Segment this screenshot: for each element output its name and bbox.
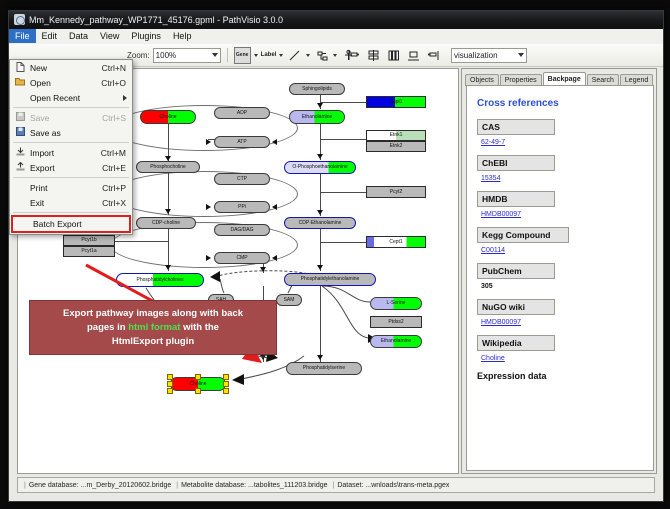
window-titlebar: Mm_Kennedy_pathway_WP1771_45176.gpml - P… — [9, 11, 663, 29]
menu-item-print[interactable]: Print Ctrl+P — [10, 180, 132, 195]
gene-etnk1[interactable]: Etnk1 — [366, 130, 426, 141]
submenu-arrow-icon — [123, 95, 127, 101]
pathvisio-app-icon — [14, 14, 25, 25]
menu-item-import[interactable]: Import Ctrl+M — [10, 145, 132, 160]
tab-backpage[interactable]: Backpage — [543, 72, 586, 86]
status-gene-db-label: Gene database: — [29, 482, 79, 489]
selection-handle[interactable] — [167, 381, 173, 387]
node-phosphocholine[interactable]: Phosphocholine — [136, 161, 200, 173]
menu-divider — [13, 212, 129, 213]
selection-handle[interactable] — [223, 388, 229, 394]
status-dataset-value: ...wnloads\trans-meta.pgex — [365, 482, 449, 489]
selection-handle[interactable] — [167, 374, 173, 380]
arrowhead-icon — [317, 210, 323, 215]
menu-item-accel: Ctrl+X — [102, 198, 132, 208]
xref-db-label: Kegg Compound — [477, 227, 569, 243]
gene-sgpl1[interactable]: Sgpl1 — [366, 96, 426, 108]
xref-nugo-wiki: NuGO wiki HMDB00097 — [477, 299, 641, 326]
file-menu-popup[interactable]: New Ctrl+N Open Ctrl+O Open Recent Save … — [9, 59, 133, 235]
xref-chebi: ChEBI 15354 — [477, 155, 641, 182]
menu-item-accel: Ctrl+S — [102, 113, 132, 123]
menu-item-label: Save as — [30, 128, 126, 138]
gene-pcyt1b[interactable]: Pcyt1b — [63, 235, 115, 246]
xref-link[interactable]: 62-49-7 — [481, 139, 505, 146]
import-icon — [10, 147, 30, 158]
menu-plugins[interactable]: Plugins — [125, 29, 167, 43]
xref-db-label: ChEBI — [477, 155, 555, 171]
menu-divider — [13, 142, 129, 143]
arrowhead-icon — [272, 255, 277, 261]
menu-item-accel: Ctrl+P — [102, 183, 132, 193]
menu-file[interactable]: File — [9, 29, 36, 43]
xref-link[interactable]: HMDB00097 — [481, 319, 521, 326]
label-dropdown-icon[interactable] — [279, 54, 283, 57]
xref-link[interactable]: HMDB00097 — [481, 211, 521, 218]
xref-value[interactable]: 62-49-7 — [481, 139, 641, 146]
menu-edit[interactable]: Edit — [36, 29, 64, 43]
menu-item-accel: Ctrl+M — [101, 148, 132, 158]
menu-item-accel: Ctrl+O — [101, 78, 132, 88]
menu-item-label: Batch Export — [33, 219, 129, 229]
xref-value[interactable]: Choline — [481, 355, 641, 362]
menu-item-label: Export — [30, 163, 102, 173]
save-icon — [10, 112, 30, 123]
gene-ptdss2[interactable]: Ptdss2 — [370, 316, 422, 328]
menu-item-label: Open — [30, 78, 101, 88]
label-button[interactable]: Label — [261, 52, 277, 58]
menu-item-exit[interactable]: Exit Ctrl+X — [10, 195, 132, 210]
xref-link[interactable]: 15354 — [481, 175, 500, 182]
menubar: FileEditDataViewPluginsHelp — [9, 29, 663, 45]
visualization-combobox[interactable]: visualization — [451, 48, 527, 63]
status-metabolite-db-label: Metabolite database: — [181, 482, 246, 489]
datanode-dropdown-icon[interactable] — [254, 54, 258, 57]
xref-db-label: NuGO wiki — [477, 299, 555, 315]
zoom-combobox[interactable]: 100% — [153, 48, 221, 63]
menu-divider — [13, 177, 129, 178]
statusbar: |Gene database: ...m_Derby_20120602.brid… — [17, 477, 655, 493]
cross-references-heading: Cross references — [477, 98, 641, 109]
menu-item-accel: Ctrl+N — [102, 63, 132, 73]
line-icon[interactable] — [286, 47, 303, 64]
xref-db-label: PubChem — [477, 263, 555, 279]
xref-db-label: Wikipedia — [477, 335, 555, 351]
arrowhead-icon — [165, 209, 171, 214]
arrowhead-icon — [272, 139, 277, 145]
chevron-down-icon — [518, 53, 524, 57]
node-ctp[interactable]: CTP — [214, 173, 270, 185]
xref-hmdb: HMDB HMDB00097 — [477, 191, 641, 218]
node-cdp-ethanolamine[interactable]: CDP-Ethanolamine — [284, 217, 356, 229]
expression-data-heading: Expression data — [477, 371, 641, 381]
annotation-line2-highlight: html format — [128, 322, 180, 333]
arrowhead-icon — [206, 255, 211, 261]
xref-value[interactable]: HMDB00097 — [481, 319, 641, 326]
node-adp[interactable]: ADP — [214, 107, 270, 119]
xref-wikipedia: Wikipedia Choline — [477, 335, 641, 362]
node-phosphatidylethanolamine[interactable]: Phosphatidylethanolamine — [284, 273, 376, 286]
menu-item-label: Save — [30, 113, 102, 123]
arrowhead-icon — [206, 139, 211, 145]
chevron-down-icon — [212, 53, 218, 57]
xref-value[interactable]: HMDB00097 — [481, 211, 641, 218]
menu-item-export[interactable]: Export Ctrl+E — [10, 160, 132, 175]
zoom-value: 100% — [156, 51, 176, 60]
node-choline[interactable]: Choline — [140, 110, 196, 124]
menu-data[interactable]: Data — [63, 29, 94, 43]
screenshot-frame: Mm_Kennedy_pathway_WP1771_45176.gpml - P… — [0, 0, 670, 509]
align-bottom-icon[interactable] — [405, 47, 422, 64]
xref-db-label: CAS — [477, 119, 555, 135]
menu-help[interactable]: Help — [167, 29, 198, 43]
arrowhead-icon — [317, 103, 323, 108]
node-atp[interactable]: ATP — [214, 136, 270, 148]
annotation-line3: HtmlExport plugin — [112, 336, 194, 347]
save-as-icon — [10, 127, 30, 138]
node-o-phosphoethanolamine[interactable]: O-Phosphoethanolamine — [284, 161, 356, 174]
menu-item-batch-export[interactable]: Batch Export — [11, 215, 131, 233]
xref-pubchem: PubChem 305 — [477, 263, 641, 290]
xref-kegg-compound: Kegg Compound C00114 — [477, 227, 641, 254]
xref-value[interactable]: C00114 — [481, 247, 641, 254]
xref-value: 305 — [481, 283, 641, 290]
align-right-icon[interactable] — [425, 47, 442, 64]
menu-item-save-as[interactable]: Save as — [10, 125, 132, 140]
edge — [320, 139, 366, 140]
menu-item-new[interactable]: New Ctrl+N — [10, 60, 132, 75]
xref-cas: CAS 62-49-7 — [477, 119, 641, 146]
new-file-icon — [10, 62, 30, 74]
xref-link[interactable]: Choline — [481, 355, 505, 362]
interaction-dropdown-icon[interactable] — [333, 54, 337, 57]
node-ethanolamine[interactable]: Ethanolamine — [289, 110, 345, 124]
arrowhead-icon — [206, 204, 211, 210]
node-phosphatidylserine[interactable]: Phosphatidylserine — [286, 362, 362, 375]
annotation-line2-b: with the — [180, 322, 219, 333]
interaction-icon[interactable] — [313, 47, 330, 64]
annotation-line2-a: pages in — [87, 322, 128, 333]
node-cdp-choline[interactable]: CDP-choline — [136, 217, 196, 229]
align-columns-icon[interactable] — [385, 47, 402, 64]
sidebar: Objects Properties Backpage Search Legen… — [461, 68, 657, 474]
status-gene-db-value: ...m_Derby_20120602.bridge — [81, 482, 172, 489]
gene-pcyt2[interactable]: Pcyt2 — [366, 186, 426, 198]
edge — [320, 242, 366, 243]
selection-handle[interactable] — [195, 374, 201, 380]
menu-item-label: Print — [30, 183, 102, 193]
window-title: Mm_Kennedy_pathway_WP1771_45176.gpml - P… — [29, 15, 283, 25]
align-center-icon[interactable] — [365, 47, 382, 64]
open-folder-icon — [10, 77, 30, 88]
visualization-value: visualization — [454, 51, 498, 60]
selection-handle[interactable] — [167, 388, 173, 394]
node-sphingolipids[interactable]: Sphingolipids — [289, 83, 345, 95]
annotation-line1: Export pathway images along with back — [63, 308, 243, 319]
status-dataset-label: Dataset: — [337, 482, 363, 489]
selection-handle[interactable] — [223, 374, 229, 380]
edge — [320, 102, 366, 103]
arrowhead-icon — [272, 204, 277, 210]
sidebar-tabs: Objects Properties Backpage Search Legen… — [465, 72, 653, 86]
xref-value[interactable]: 15354 — [481, 175, 641, 182]
menu-item-label: Exit — [30, 198, 102, 208]
menu-item-open-recent[interactable]: Open Recent — [10, 90, 132, 105]
menu-item-label: New — [30, 63, 102, 73]
backpage-panel[interactable]: Cross references CAS 62-49-7 ChEBI 15354… — [466, 85, 654, 471]
arrowhead-icon — [317, 154, 323, 159]
node-l-serine[interactable]: L-Serine — [370, 297, 422, 310]
menu-item-save: Save Ctrl+S — [10, 110, 132, 125]
node-dag[interactable]: DAG/DAG — [214, 224, 270, 236]
xref-db-label: HMDB — [477, 191, 555, 207]
menu-view[interactable]: View — [94, 29, 125, 43]
gene-etnk2[interactable]: Etnk2 — [366, 141, 426, 152]
edge — [115, 241, 168, 242]
menu-item-open[interactable]: Open Ctrl+O — [10, 75, 132, 90]
datanode-icon[interactable]: Gene — [234, 47, 251, 64]
node-ppi[interactable]: PPi — [214, 201, 270, 213]
menu-item-label: Open Recent — [30, 93, 132, 103]
gene-pcyt1a[interactable]: Pcyt1a — [63, 246, 115, 257]
gene-cept1[interactable]: Cept1 — [366, 236, 426, 248]
node-ethanolamine-2[interactable]: Ethanolamine — [370, 335, 422, 348]
selection-handle[interactable] — [195, 388, 201, 394]
xref-link[interactable]: C00114 — [481, 247, 505, 254]
edge — [320, 192, 366, 193]
annotation-callout: Export pathway images along with back pa… — [29, 300, 277, 355]
toolbar-separator — [227, 48, 228, 62]
status-metabolite-db-value: ...tabolites_111203.bridge — [248, 482, 328, 489]
menu-item-label: Import — [30, 148, 101, 158]
menu-divider — [13, 107, 129, 108]
menu-item-accel: Ctrl+E — [102, 163, 132, 173]
align-left-icon[interactable] — [345, 47, 362, 64]
export-icon — [10, 162, 30, 173]
line-dropdown-icon[interactable] — [306, 54, 310, 57]
selection-handle[interactable] — [223, 381, 229, 387]
pathvisio-window: Mm_Kennedy_pathway_WP1771_45176.gpml - P… — [8, 10, 664, 502]
